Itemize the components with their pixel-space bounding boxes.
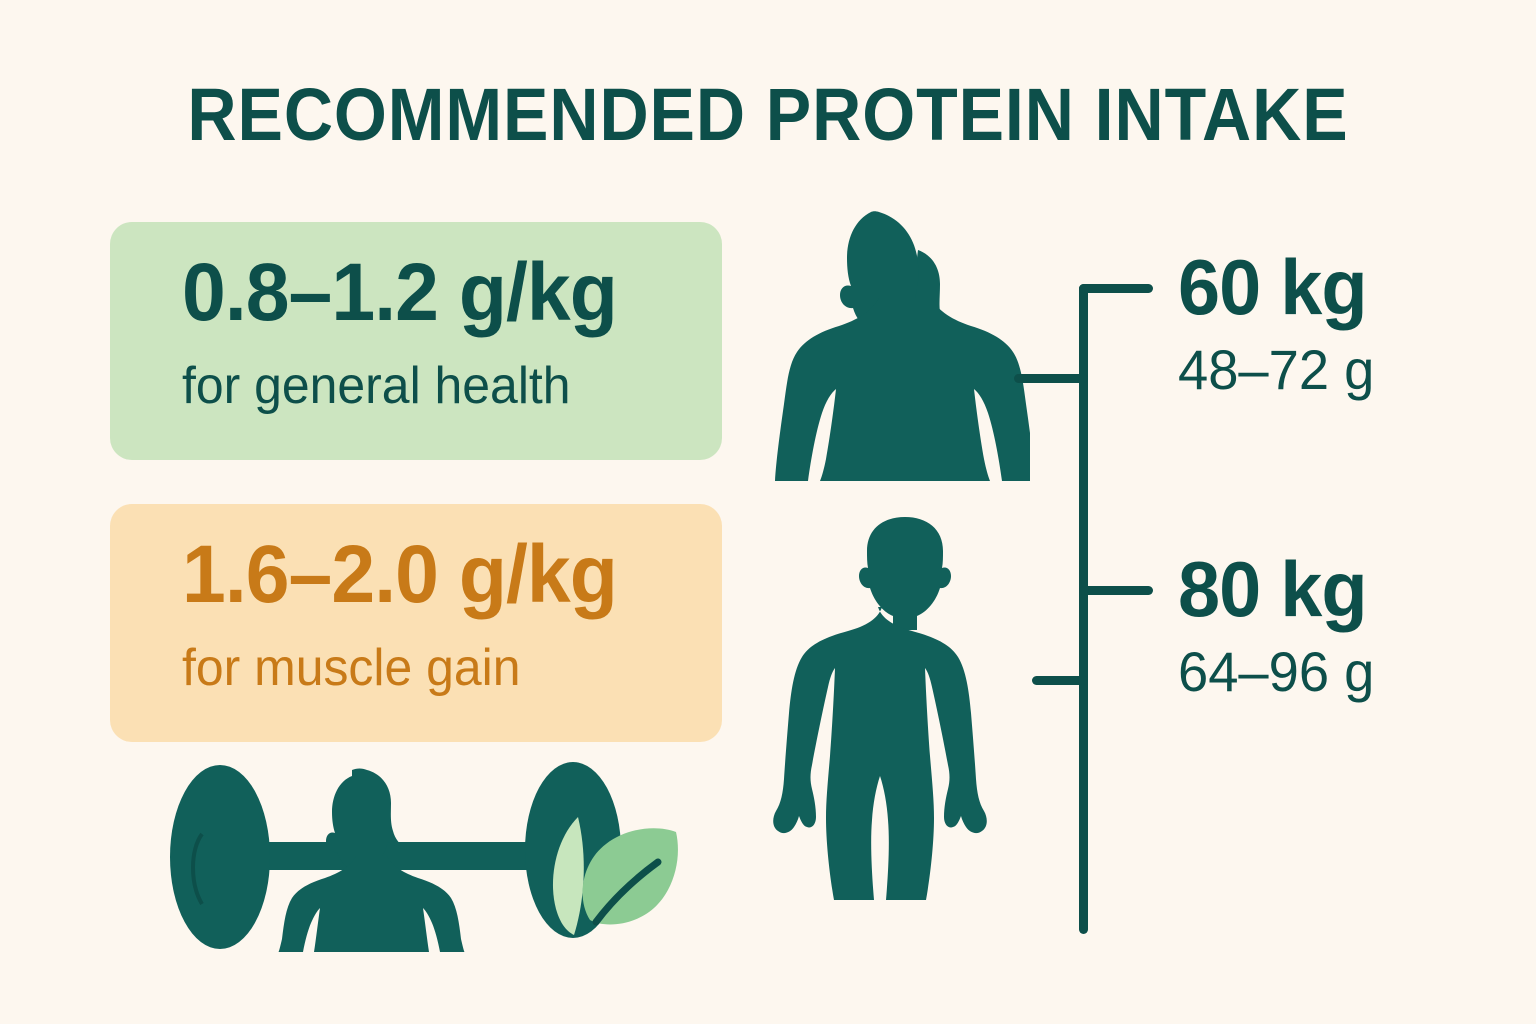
connector-80kg-right-tick bbox=[1079, 586, 1153, 595]
readout-60kg-weight: 60 kg bbox=[1178, 248, 1374, 326]
icon-cluster bbox=[160, 762, 680, 952]
readout-80kg-weight: 80 kg bbox=[1178, 550, 1374, 628]
card-general-health-value: 0.8–1.2 g/kg bbox=[182, 252, 700, 334]
readout-60kg: 60 kg 48–72 g bbox=[1178, 248, 1380, 398]
card-muscle-gain-value: 1.6–2.0 g/kg bbox=[182, 534, 700, 616]
card-muscle-gain: 1.6–2.0 g/kg for muscle gain bbox=[110, 504, 722, 742]
male-silhouette-icon bbox=[770, 505, 1040, 940]
connector-60kg-right-tick bbox=[1079, 284, 1153, 293]
connector-60kg-left-tick bbox=[1014, 374, 1088, 383]
readout-80kg-protein: 64–96 g bbox=[1178, 644, 1374, 700]
page-title: RECOMMENDED PROTEIN INTAKE bbox=[61, 72, 1474, 157]
female-silhouette-icon bbox=[775, 198, 1030, 483]
infographic-canvas: RECOMMENDED PROTEIN INTAKE 0.8–1.2 g/kg … bbox=[0, 0, 1536, 1024]
card-general-health-label: for general health bbox=[182, 360, 700, 412]
card-general-health: 0.8–1.2 g/kg for general health bbox=[110, 222, 722, 460]
connector-80kg-left-tick bbox=[1032, 676, 1088, 685]
card-muscle-gain-label: for muscle gain bbox=[182, 642, 700, 694]
readout-80kg: 80 kg 64–96 g bbox=[1178, 550, 1380, 700]
readout-60kg-protein: 48–72 g bbox=[1178, 342, 1374, 398]
